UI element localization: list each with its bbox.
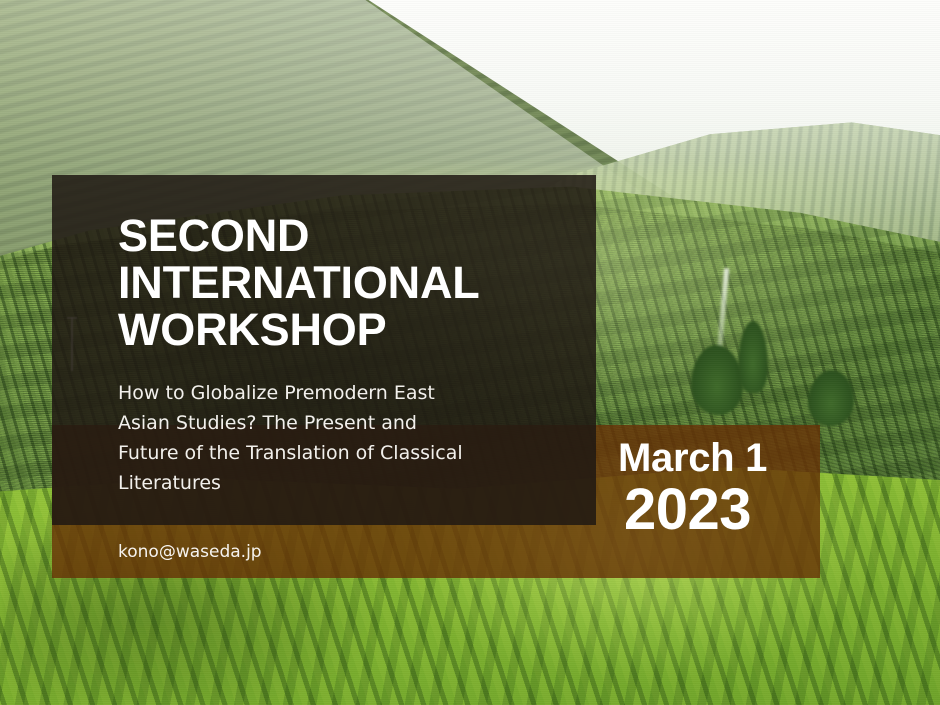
workshop-subtitle: How to Globalize Premodern East Asian St… (118, 378, 538, 498)
event-date-year: 2023 (618, 480, 808, 540)
event-date-day: March 1 (618, 436, 808, 480)
event-date-block: March 1 2023 (618, 436, 808, 540)
foreground-tree (808, 370, 854, 426)
event-poster: SECOND INTERNATIONAL WORKSHOP How to Glo… (0, 0, 940, 705)
contact-email: kono@waseda.jp (118, 540, 262, 564)
page-title: SECOND INTERNATIONAL WORKSHOP (118, 212, 588, 353)
